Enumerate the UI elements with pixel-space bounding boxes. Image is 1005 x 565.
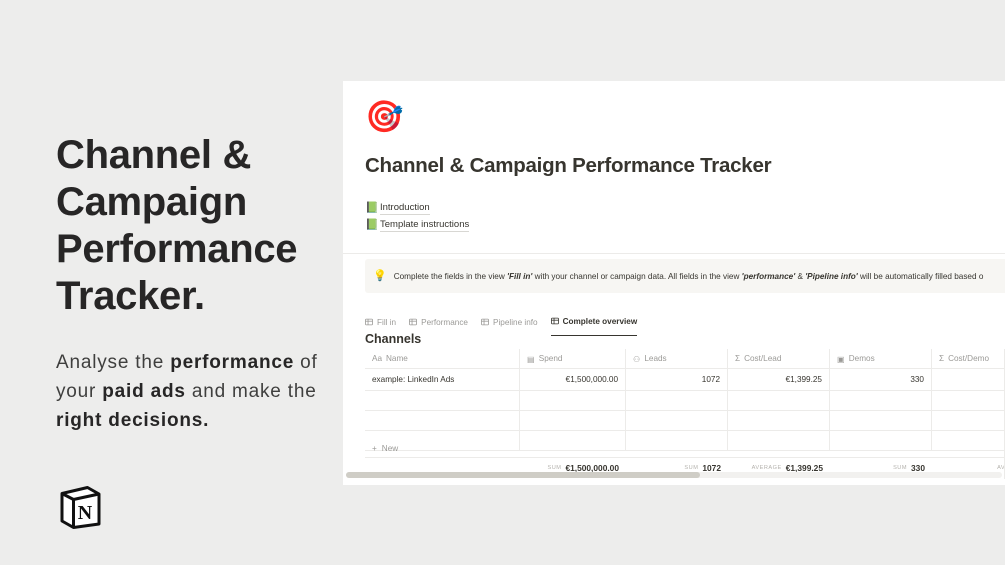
column-header-label: Leads: [644, 354, 666, 363]
callout-text: Complete the fields in the view 'Fill in…: [394, 270, 984, 283]
column-header-label: Cost/Demo: [948, 354, 989, 363]
cell-name[interactable]: [365, 411, 520, 430]
divider: [343, 253, 1005, 254]
sub-page-label: Template instructions: [380, 219, 469, 232]
database-title: Channels: [365, 332, 421, 346]
tab-label: Complete overview: [563, 317, 638, 326]
column-header-name[interactable]: Aa Name: [365, 349, 520, 368]
cell-spend[interactable]: [520, 411, 626, 430]
hero-sub-text-4: the: [288, 381, 317, 402]
cell-cost-per-demo[interactable]: [932, 411, 1005, 430]
table-view-icon: [481, 313, 489, 331]
tab-label: Performance: [421, 318, 468, 327]
callout-text-part-2: with your channel or campaign data. All …: [532, 272, 741, 281]
notion-screenshot-panel: 🎯 Channel & Campaign Performance Tracker…: [343, 81, 1005, 485]
column-header-spend[interactable]: ▤ Spend: [520, 349, 626, 368]
column-header-label: Name: [386, 354, 408, 363]
sub-page-link-introduction[interactable]: 📗 Introduction: [365, 200, 469, 217]
slide-canvas: Channel & Campaign Performance Tracker. …: [0, 0, 1005, 565]
cell-cost-per-lead[interactable]: €1,399.25: [728, 369, 830, 390]
new-row-button[interactable]: + New: [365, 439, 1005, 458]
column-header-label: Demos: [849, 354, 875, 363]
text-property-icon: Aa: [372, 354, 382, 363]
notion-logo-icon: N: [57, 484, 103, 530]
cell-leads[interactable]: [626, 411, 728, 430]
notion-page-title: Channel & Campaign Performance Tracker: [365, 154, 771, 178]
marketing-pane: Channel & Campaign Performance Tracker. …: [56, 132, 336, 435]
callout-text-part-1: Complete the fields in the view: [394, 272, 507, 281]
cell-demos[interactable]: [830, 391, 932, 410]
scrollbar-thumb[interactable]: [346, 472, 700, 478]
tab-complete-overview[interactable]: Complete overview: [551, 312, 638, 336]
table-view-icon: [365, 313, 373, 331]
summary-label: AVERAGE: [752, 465, 782, 471]
notion-logo-letter: N: [78, 502, 93, 524]
tab-pipeline-info[interactable]: Pipeline info: [481, 313, 538, 336]
sub-page-links: 📗 Introduction 📗 Template instructions: [365, 200, 469, 234]
notion-logo: N: [57, 484, 103, 530]
dartboard-icon: 🎯: [365, 101, 404, 132]
rollup-property-icon: ▣: [837, 354, 845, 364]
column-header-cost-per-lead[interactable]: Σ Cost/Lead: [728, 349, 830, 368]
table-view-icon: [409, 313, 417, 331]
tab-label: Pipeline info: [493, 318, 538, 327]
green-book-icon: 📗: [365, 203, 380, 214]
cell-cost-per-demo[interactable]: [932, 369, 1005, 390]
cell-cost-per-lead[interactable]: [728, 411, 830, 430]
callout-em-fill-in: 'Fill in': [507, 272, 532, 281]
column-header-leads[interactable]: ⚇ Leads: [626, 349, 728, 368]
column-header-cost-per-demo[interactable]: Σ Cost/Demo: [932, 349, 1005, 368]
cell-leads[interactable]: 1072: [626, 369, 728, 390]
database-table: Aa Name ▤ Spend ⚇ Leads Σ Cost/Lead ▣: [365, 349, 1005, 451]
people-property-icon: ⚇: [633, 354, 640, 364]
summary-label: SUM: [548, 465, 562, 471]
callout-block: 💡 Complete the fields in the view 'Fill …: [365, 259, 1005, 293]
hero-sub-bold-paid-ads: paid ads: [102, 381, 185, 402]
cell-spend[interactable]: [520, 391, 626, 410]
sub-page-link-template-instructions[interactable]: 📗 Template instructions: [365, 217, 469, 234]
hero-sub-bold-right-decisions: right decisions.: [56, 410, 209, 431]
callout-em-pipeline-info: 'Pipeline info': [805, 272, 858, 281]
callout-text-part-3: &: [795, 272, 805, 281]
table-view-icon: [551, 312, 559, 330]
column-header-label: Cost/Lead: [744, 354, 781, 363]
table-header-row: Aa Name ▤ Spend ⚇ Leads Σ Cost/Lead ▣: [365, 349, 1005, 369]
hero-sub-text-1: Analyse the: [56, 352, 164, 373]
cell-name[interactable]: example: LinkedIn Ads: [365, 369, 520, 390]
green-book-icon: 📗: [365, 220, 380, 231]
cell-spend[interactable]: €1,500,000.00: [520, 369, 626, 390]
summary-label: SUM: [893, 465, 907, 471]
callout-text-part-4: will be automatically filled based o: [858, 272, 984, 281]
formula-property-icon: Σ: [939, 354, 944, 363]
table-row[interactable]: example: LinkedIn Ads €1,500,000.00 1072…: [365, 369, 1005, 391]
cell-cost-per-lead[interactable]: [728, 391, 830, 410]
new-row-label: New: [382, 444, 398, 453]
horizontal-scrollbar[interactable]: [343, 472, 1005, 478]
plus-icon: +: [372, 444, 377, 453]
column-header-demos[interactable]: ▣ Demos: [830, 349, 932, 368]
cell-demos[interactable]: 330: [830, 369, 932, 390]
hero-sub-text-3: and make: [186, 381, 282, 402]
cell-cost-per-demo[interactable]: [932, 391, 1005, 410]
table-row[interactable]: [365, 411, 1005, 431]
cell-name[interactable]: [365, 391, 520, 410]
table-row[interactable]: [365, 391, 1005, 411]
hero-sub-bold-performance: performance: [170, 352, 294, 373]
hero-subtitle: Analyse the performance of your paid ads…: [56, 348, 336, 435]
page-title: Channel & Campaign Performance Tracker.: [56, 132, 336, 320]
cell-demos[interactable]: [830, 411, 932, 430]
formula-property-icon: Σ: [735, 354, 740, 363]
column-header-label: Spend: [539, 354, 563, 363]
summary-label: SUM: [684, 465, 698, 471]
callout-em-performance: 'performance': [742, 272, 796, 281]
number-property-icon: ▤: [527, 354, 535, 364]
lightbulb-icon: 💡: [373, 271, 387, 282]
cell-leads[interactable]: [626, 391, 728, 410]
tab-label: Fill in: [377, 318, 396, 327]
sub-page-label: Introduction: [380, 202, 430, 215]
